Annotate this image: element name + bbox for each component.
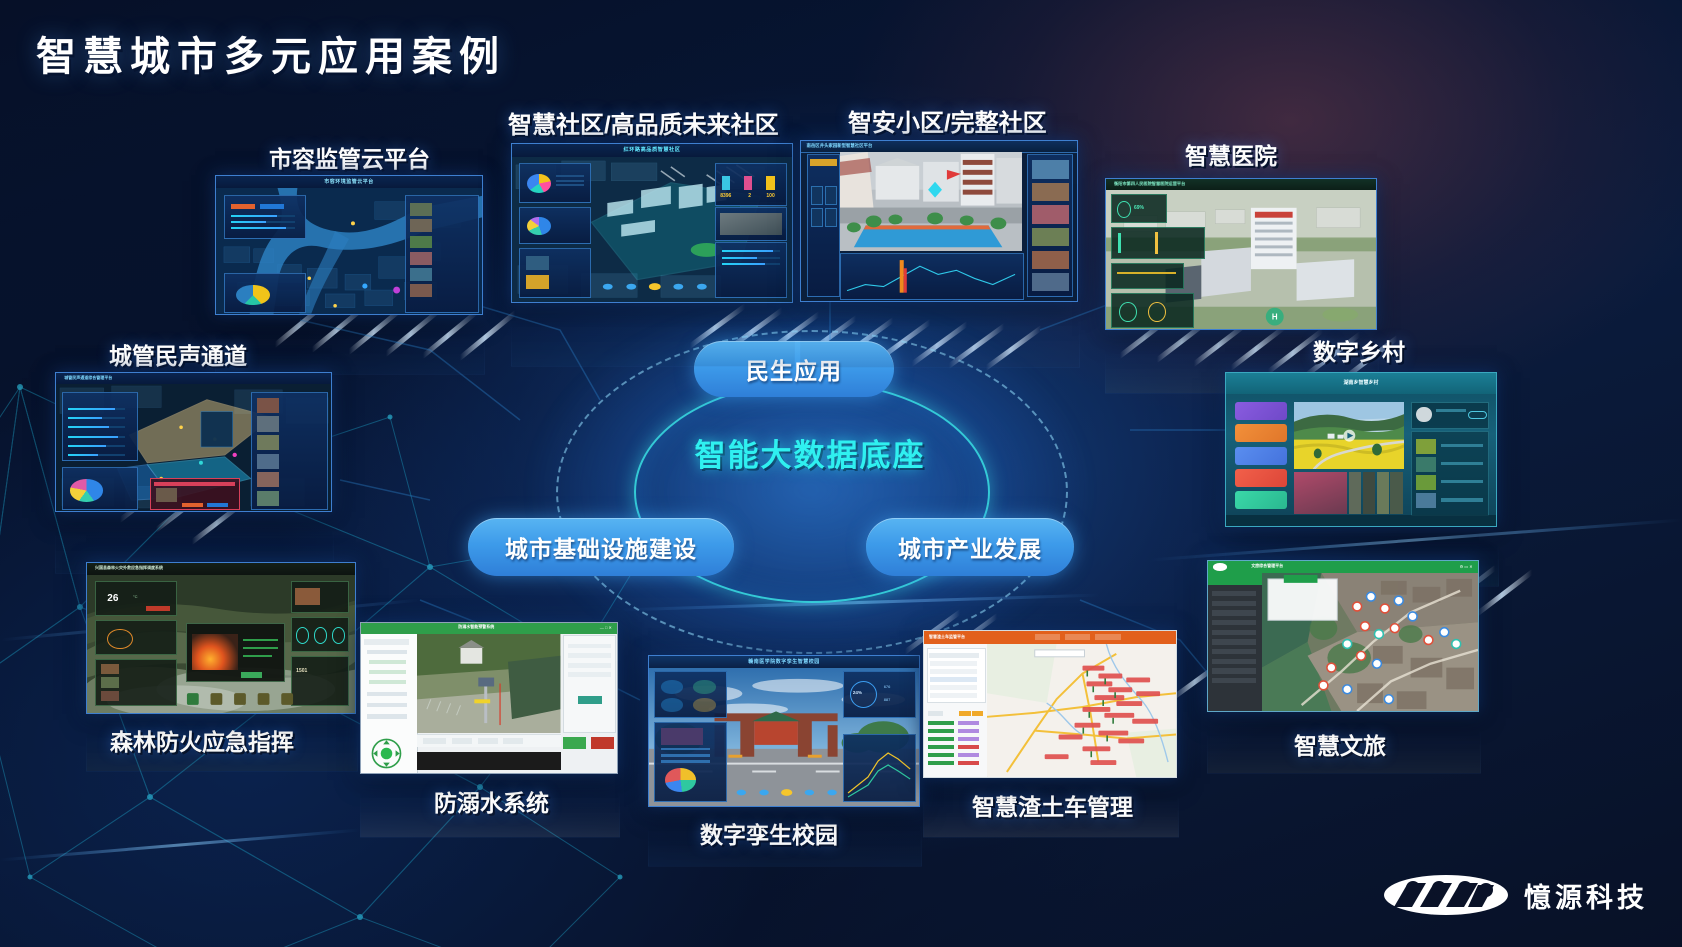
zhian-3d-view (840, 152, 1022, 251)
xiaoyuan-kpi-value: 24% (853, 690, 862, 695)
senlin-gauge-card (95, 620, 177, 655)
screen-minsheng[interactable]: 城管民声通道综合管理平台 (55, 372, 332, 512)
shequ-camera-panel (715, 207, 787, 241)
page-title: 智慧城市多元应用案例 (36, 24, 506, 82)
yiyuan-kpi-4 (1111, 293, 1194, 328)
caption-shirong: 市容监管云平台 (269, 140, 430, 174)
screen-zhatuche[interactable]: 智慧渣土车监管平台 (923, 630, 1177, 778)
xiaoyuan-panel-chart (843, 734, 915, 802)
zhian-left-panel (807, 154, 841, 297)
svg-text:H: H (1272, 312, 1278, 321)
slide-canvas: 智慧城市多元应用案例 智能大数据底座 民生应用 城市基础设施建设 城市产业发展 … (0, 0, 1682, 947)
shequ-panel-c (519, 248, 591, 297)
core-label: 智能大数据底座 (634, 430, 986, 475)
zhian-title: 南岳区井头家园新型智慧社区平台 (807, 143, 873, 149)
fangnishui-cancel-button[interactable] (591, 737, 614, 749)
shequ-bottom-nav[interactable] (596, 274, 714, 299)
brand-logo: 憶源科技 (1382, 869, 1648, 921)
screen-yiyuan[interactable]: 衡阳市第四人民医院智慧医院运营平台 (1105, 178, 1377, 330)
reflection-shirong (215, 317, 485, 375)
pill-minsheng[interactable]: 民生应用 (694, 341, 894, 397)
screen-senlin[interactable]: 兴国县森林火灾外救应急指挥调度系统 26 °C (86, 562, 356, 714)
caption-xiaoyuan: 数字孪生校园 (700, 816, 838, 850)
shequ-table-panel (715, 242, 787, 298)
yiyuan-kpi-1: 69% (1111, 194, 1167, 223)
xiangcun-thumb-row[interactable] (1294, 472, 1405, 513)
shequ-panel-b (519, 207, 591, 244)
xiangcun-hero-photo[interactable] (1294, 402, 1405, 469)
brand-name: 憶源科技 (1524, 876, 1648, 915)
senlin-device-card (291, 617, 349, 652)
screen-shirong[interactable]: 市容环境监管云平台 (215, 175, 483, 315)
zhatuche-map[interactable] (987, 644, 1176, 777)
fangnishui-ptz-control[interactable] (366, 737, 407, 770)
senlin-weather-card: 26 °C (95, 581, 177, 616)
caption-wenlv: 智慧文旅 (1294, 727, 1386, 761)
yiyuan-kpi-3 (1111, 263, 1183, 289)
screen-xiaoyuan[interactable]: 赣南医学院数字孪生智慧校园 (648, 655, 920, 807)
xiaoyuan-panel-overview (654, 671, 726, 718)
caption-zhatuche: 智慧渣土车管理 (972, 788, 1133, 822)
shequ-panel-kpi: 8396 2 100 (715, 163, 787, 206)
caption-shequ: 智慧社区/高品质未来社区 (508, 105, 779, 140)
yiyuan-ellipse-logo-icon (1382, 869, 1510, 921)
zhatuche-sidebar[interactable] (924, 644, 988, 777)
zhian-chart-panel (840, 253, 1024, 300)
minsheng-event-list[interactable] (251, 392, 327, 510)
minsheng-pie-panel (62, 467, 138, 510)
wenlv-title: 文旅综合管理平台 (1251, 563, 1283, 569)
senlin-alarm-list[interactable] (95, 659, 177, 706)
senlin-toolbar[interactable] (183, 691, 301, 709)
yiyuan-kpi-2 (1111, 227, 1205, 259)
zhian-right-list[interactable] (1027, 154, 1073, 297)
xiangcun-product-list[interactable] (1411, 431, 1489, 516)
senlin-news-card (291, 581, 349, 613)
wenlv-satellite-map[interactable] (1262, 573, 1478, 711)
caption-minsheng: 城管民声通道 (109, 337, 247, 371)
xiangcun-header: 湖南乡智慧乡村 (1226, 373, 1496, 394)
xiangcun-title: 湖南乡智慧乡村 (1226, 379, 1496, 386)
xiaoyuan-panel-people (654, 722, 726, 802)
senlin-temperature: 26 (107, 593, 118, 604)
screen-fangnishui[interactable]: 防溺水智能预警系统 — □ ✕ (360, 622, 618, 774)
caption-yiyuan: 智慧医院 (1185, 137, 1277, 171)
pill-infrastructure-label: 城市基础设施建设 (505, 530, 697, 564)
minsheng-alert-card (150, 478, 240, 510)
wenlv-topbar[interactable]: 文旅综合管理平台 ⚙ ▭ ✕ (1208, 561, 1478, 573)
caption-fangnishui: 防溺水系统 (434, 784, 549, 818)
fangnishui-title: 防溺水智能预警系统 (458, 624, 494, 630)
shequ-panel-a (519, 163, 591, 203)
senlin-title: 兴国县森林火灾外救应急指挥调度系统 (95, 565, 163, 571)
caption-senlin: 森林防火应急指挥 (110, 723, 294, 757)
pill-industry-label: 城市产业发展 (898, 530, 1042, 564)
pill-infrastructure[interactable]: 城市基础设施建设 (468, 518, 734, 576)
senlin-fire-popup (186, 623, 284, 682)
zhatuche-topbar[interactable]: 智慧渣土车监管平台 (924, 631, 1176, 644)
pill-minsheng-label: 民生应用 (746, 352, 842, 386)
shirong-pie-panel (224, 273, 306, 314)
fangnishui-save-button[interactable] (563, 737, 586, 749)
shirong-title: 市容环境监管云平台 (216, 178, 482, 185)
fangnishui-toolbar[interactable] (417, 734, 560, 747)
caption-zhianxiaoqu: 智安小区/完整社区 (848, 103, 1047, 138)
xiangcun-profile-card (1411, 402, 1489, 428)
fangnishui-form[interactable] (563, 635, 616, 733)
caption-xiangcun: 数字乡村 (1313, 333, 1405, 367)
yiyuan-title: 衡阳市第四人民医院智慧医院运营平台 (1114, 181, 1185, 187)
shirong-event-list[interactable] (405, 195, 479, 313)
minsheng-title: 城管民声通道综合管理平台 (64, 375, 112, 381)
minsheng-slider-panel (62, 392, 138, 460)
shequ-title: 红环路高品质智慧社区 (512, 146, 792, 153)
fangnishui-log-bar (417, 752, 560, 770)
screen-xiangcun[interactable]: 湖南乡智慧乡村 (1225, 372, 1497, 527)
xiaoyuan-title: 赣南医学院数字孪生智慧校园 (649, 658, 919, 665)
fangnishui-titlebar: 防溺水智能预警系统 — □ ✕ (361, 623, 617, 634)
fangnishui-camera-view (417, 634, 560, 733)
zhatuche-title: 智慧渣土车监管平台 (929, 634, 965, 640)
screen-zhianxiaoqu[interactable]: 南岳区井头家园新型智慧社区平台 (800, 140, 1078, 302)
pill-industry[interactable]: 城市产业发展 (866, 518, 1074, 576)
screen-wenlv[interactable]: 文旅综合管理平台 ⚙ ▭ ✕ (1207, 560, 1479, 712)
wenlv-sidebar[interactable] (1208, 573, 1262, 711)
shirong-left-panel (224, 195, 306, 238)
xiaoyuan-bottom-nav[interactable] (730, 782, 843, 803)
xiaoyuan-panel-kpi: 24% 676 887 (843, 671, 915, 718)
xiangcun-footer (1226, 515, 1496, 526)
xiangcun-menu[interactable] (1235, 402, 1286, 514)
screen-shequ[interactable]: 红环路高品质智慧社区 (511, 143, 793, 303)
